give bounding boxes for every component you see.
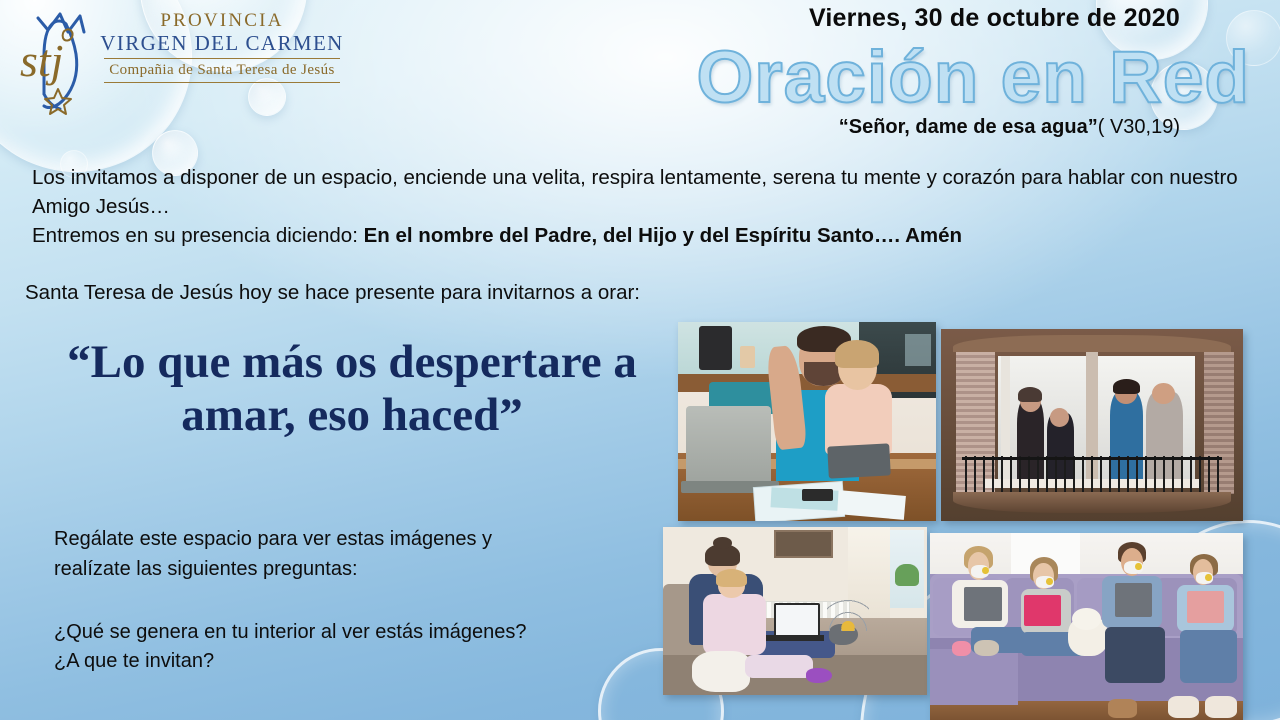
questions-paragraph: ¿Qué se genera en tu interior al ver est… — [54, 618, 674, 676]
photo-content — [663, 527, 927, 695]
photo-neighbors-applauding-from-balcony — [941, 329, 1243, 521]
logo-divider — [104, 58, 340, 59]
photo-family-with-masks-and-tablets-on-sofa — [930, 533, 1243, 720]
slide-canvas: stj PROVINCIA VIRGEN DEL CARMEN Compañia… — [0, 0, 1280, 720]
provincia-logo: stj PROVINCIA VIRGEN DEL CARMEN Compañia… — [0, 0, 350, 130]
photo-content — [930, 533, 1243, 720]
logo-line-virgen-del-carmen: VIRGEN DEL CARMEN — [96, 31, 348, 55]
question-1: ¿Qué se genera en tu interior al ver est… — [54, 618, 674, 647]
date-label: Viernes, 30 de octubre de 2020 — [809, 4, 1180, 33]
verse-citation: ( V30,19) — [1098, 116, 1180, 138]
photo-father-with-toddler-at-laptop — [678, 322, 936, 521]
photo-content — [941, 329, 1243, 521]
intro-paragraph-line-a: Los invitamos a disponer de un espacio, … — [32, 163, 1257, 221]
page-title: Oración en Red — [696, 36, 1250, 119]
intro-paragraph: Los invitamos a disponer de un espacio, … — [32, 163, 1257, 250]
svg-text:stj: stj — [20, 35, 63, 86]
intro-paragraph-line-b: Entremos en su presencia diciendo: En el… — [32, 221, 1257, 250]
photo-mother-and-daughter-with-laptop-on-sofa — [663, 527, 927, 695]
invite-line-2: realízate las siguientes preguntas: — [54, 554, 654, 584]
logo-line-compania: Compañia de Santa Teresa de Jesús — [96, 61, 348, 79]
intro-lead-text: Entremos en su presencia diciendo: — [32, 224, 364, 247]
verse-quote-text: “Señor, dame de esa agua” — [839, 116, 1098, 138]
invite-paragraph: Regálate este espacio para ver estas imá… — [54, 524, 654, 584]
logo-divider — [104, 82, 340, 83]
photo-content — [678, 322, 936, 521]
invite-line-1: Regálate este espacio para ver estas imá… — [54, 524, 654, 554]
question-2: ¿A que te invitan? — [54, 647, 674, 676]
teresa-quote: “Lo que más os despertare a amar, eso ha… — [42, 336, 662, 442]
logo-line-provincia: PROVINCIA — [96, 10, 348, 31]
presente-paragraph: Santa Teresa de Jesús hoy se hace presen… — [25, 278, 725, 307]
intro-bold-text: En el nombre del Padre, del Hijo y del E… — [364, 224, 962, 247]
verse-reference: “Señor, dame de esa agua”( V30,19) — [839, 116, 1180, 139]
